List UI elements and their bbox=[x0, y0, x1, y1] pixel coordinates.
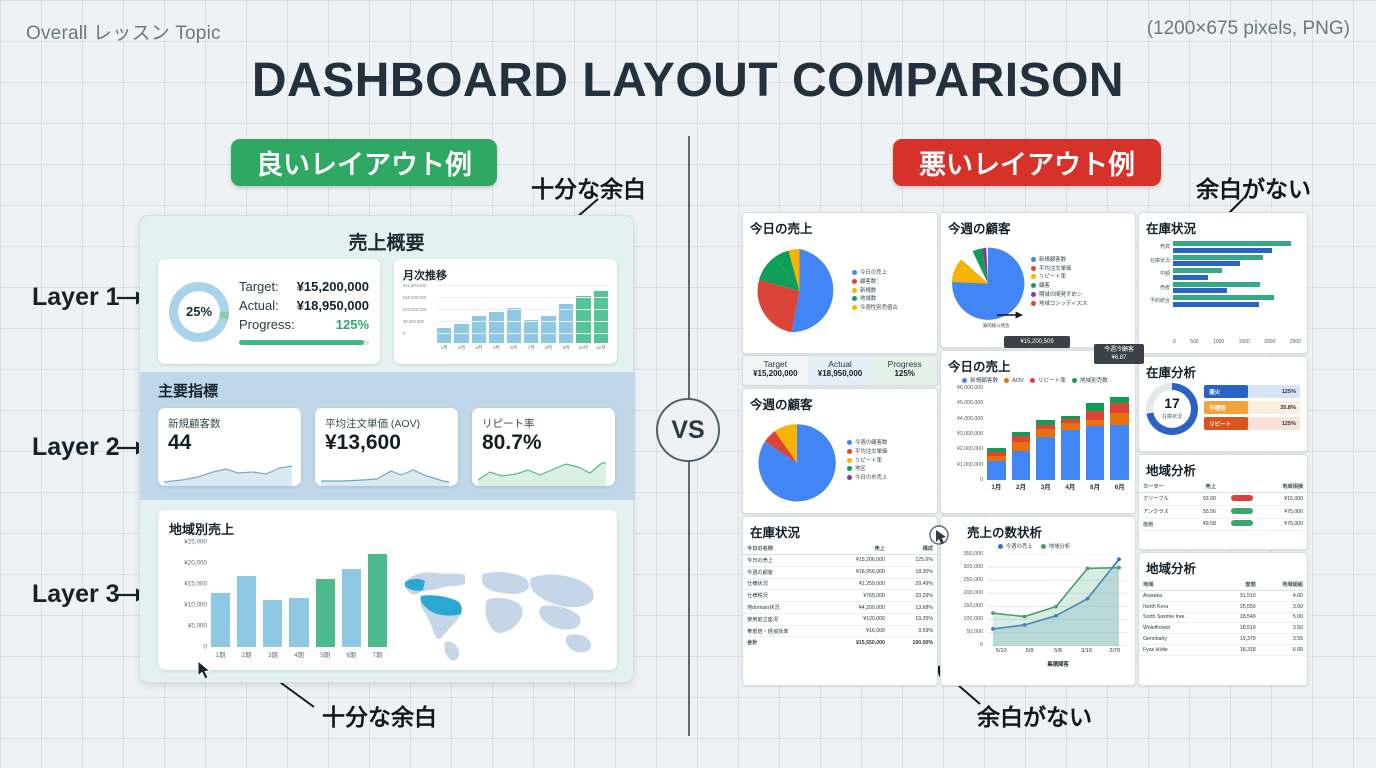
regional-x-labels: 1期2期3期4期5期6期7期 bbox=[211, 650, 387, 659]
legend-item: 新規数 bbox=[852, 287, 898, 296]
gauge-row-value: 35.8% bbox=[1248, 402, 1300, 413]
top-bar: Overall レッスン Topic (1200×675 pixels, PNG… bbox=[0, 18, 1376, 48]
gauge-donut: 17 在庫状況 bbox=[1146, 383, 1198, 435]
good-dashboard-mock: 売上概要 25% Target: ¥15,200,000 Actual: ¥18… bbox=[139, 215, 634, 683]
bad-layout-badge: 悪いレイアウト例 bbox=[893, 139, 1161, 186]
sparkline-icon bbox=[315, 460, 458, 486]
table-cell: ¥15,206,000 bbox=[827, 555, 889, 567]
table-cell: 6.60 bbox=[1260, 644, 1307, 655]
legend-item: 顧客 bbox=[1031, 282, 1087, 291]
y-label: ¥3,000,000 bbox=[957, 431, 983, 437]
bad-region-1-title: 地域分析 bbox=[1139, 455, 1307, 481]
bad-card-inventory-gauge[interactable]: 在庫分析 17 在庫状況 潮火125%平理術35.8%リピート125% bbox=[1138, 356, 1308, 452]
legend-label: 新規数 bbox=[860, 288, 876, 294]
legend-dot-icon bbox=[852, 270, 857, 275]
vs-marker: VS bbox=[656, 398, 720, 462]
bad-card-week-customers-pie[interactable]: 今週の顧客 今週の顧客数平均注文単価リピート率地区今日の市売上 bbox=[742, 388, 938, 514]
hbar-row: 中額 bbox=[1141, 268, 1301, 280]
legend-item: 地域コンッディスス bbox=[1031, 300, 1087, 309]
legend-dot-icon bbox=[1041, 544, 1046, 549]
gauge-row-label: 平理術 bbox=[1204, 401, 1248, 414]
monthly-x-label: 12月 bbox=[594, 345, 608, 351]
table-row: 仕様状況¥1,259,00029.49% bbox=[743, 578, 937, 590]
legend-label: リピート率 bbox=[855, 458, 882, 464]
table-cell: Araseka bbox=[1139, 591, 1220, 602]
legend-dot-icon bbox=[847, 475, 852, 480]
kpi-value: ¥13,600 bbox=[325, 431, 448, 455]
table-cell: ¥16,000 bbox=[827, 625, 889, 637]
table-header: 地域 bbox=[1139, 579, 1220, 591]
x-label: 1000 bbox=[1213, 339, 1224, 345]
legend-dot-icon bbox=[1031, 274, 1036, 279]
legend-label: リピート率 bbox=[1038, 378, 1066, 384]
kpi-progress: Progress 125% bbox=[872, 356, 937, 385]
gauge-caption: 在庫状況 bbox=[1146, 413, 1198, 420]
line-y-labels: 350,000300,000250,000200,000150,000100,0… bbox=[941, 554, 985, 646]
monthly-x-label: 2月 bbox=[454, 345, 468, 351]
y-label: 300,000 bbox=[964, 564, 984, 570]
table-cell: 13.68% bbox=[889, 602, 937, 614]
pie-value-tooltip: ¥15,200,509 bbox=[1004, 336, 1070, 348]
table-row: 地domain状況¥4,200,00013.68% bbox=[743, 602, 937, 614]
table-cell: 9.59% bbox=[889, 625, 937, 637]
regional-bar bbox=[237, 576, 256, 647]
regional-y-label: ¥25,000 bbox=[184, 539, 207, 546]
regional-y-label: ¥10,000 bbox=[184, 602, 207, 609]
monthly-trend-x-labels: 1月2月3月4月6月7月8月9月10月12月 bbox=[403, 345, 608, 351]
monthly-x-label: 4月 bbox=[489, 345, 503, 351]
legend-item: 平均注文単価 bbox=[847, 448, 887, 457]
kpi-card-new-customers[interactable]: 新規顧客数 44 bbox=[158, 408, 301, 486]
regional-x-label: 6期 bbox=[342, 650, 361, 659]
x-label: 8月 bbox=[1086, 482, 1105, 491]
pie-legend: 今週の顧客数平均注文単価リピート率地区今日の市売上 bbox=[847, 439, 887, 483]
regional-bar bbox=[368, 554, 387, 647]
y-label: 0 bbox=[980, 477, 983, 483]
x-label: 2500 bbox=[1290, 339, 1301, 345]
bad-gauge-title: 在庫分析 bbox=[1139, 357, 1307, 383]
bad-card-inventory-bars[interactable]: 在庫状況 売高在庫状況中額売者予約統合 05001000150020002500 bbox=[1138, 212, 1308, 354]
line-x-labels: 5/105/95/83/192/70 bbox=[987, 648, 1129, 654]
regional-x-label: 3期 bbox=[263, 650, 282, 659]
gauge-row: 平理術35.8% bbox=[1204, 401, 1300, 414]
x-label: 5/9 bbox=[1015, 648, 1043, 654]
regional-bar bbox=[211, 593, 230, 647]
table-header: 地域相損 bbox=[1264, 481, 1307, 493]
legend-label: 今日の売上 bbox=[860, 270, 887, 276]
stacked-segment bbox=[1036, 437, 1055, 480]
legend-label: 期域の関発ずめシ bbox=[1039, 292, 1082, 298]
x-label: 1500 bbox=[1239, 339, 1250, 345]
stacked-segment bbox=[1086, 403, 1105, 411]
stacked-bar bbox=[1086, 403, 1105, 480]
kpi-label: 新規顧客数 bbox=[168, 416, 291, 431]
monthly-bar bbox=[559, 304, 573, 343]
gauge-value: 17 bbox=[1146, 395, 1198, 411]
hbar-series-a bbox=[1173, 241, 1291, 246]
progress-value: 125% bbox=[336, 316, 369, 335]
legend-item: 地区 bbox=[847, 465, 887, 474]
legend-item: 新規顧客数 bbox=[1031, 256, 1087, 265]
line-chart-plot bbox=[987, 554, 1127, 646]
monthly-bar bbox=[594, 291, 608, 343]
table-cell: 3.50 bbox=[1260, 623, 1307, 634]
kpi-target-value: ¥15,200,000 bbox=[743, 369, 808, 378]
summary-row-actual: Actual: ¥18,950,000 bbox=[239, 297, 369, 316]
gauge-row-value: 125% bbox=[1248, 386, 1300, 397]
regional-bar bbox=[316, 579, 335, 647]
summary-row-progress: Progress: 125% bbox=[239, 316, 369, 335]
legend-dot-icon bbox=[852, 296, 857, 301]
monthly-x-label: 1月 bbox=[437, 345, 451, 351]
table-cell: 3.60 bbox=[1260, 601, 1307, 612]
table-cell: Fyas kiIdie bbox=[1139, 644, 1220, 655]
good-layout-badge: 良いレイアウト例 bbox=[231, 139, 497, 186]
stacked-bar bbox=[1036, 420, 1055, 480]
legend-dot-icon bbox=[847, 449, 852, 454]
stacked-bars bbox=[987, 388, 1129, 480]
world-map bbox=[391, 542, 606, 666]
annotation-good-bottom: 十分な余白 bbox=[322, 698, 437, 732]
stacked-y-labels: ¥6,000,000¥5,000,000¥4,000,000¥3,000,000… bbox=[941, 388, 985, 480]
table-cell: ¥4,200,000 bbox=[827, 602, 889, 614]
table-cell: 25,550 bbox=[1220, 601, 1259, 612]
table-cell: 31,510 bbox=[1220, 591, 1259, 602]
table-header: 売上 bbox=[1189, 481, 1220, 493]
bad-kpi-strip[interactable]: Target ¥15,200,000 Actual ¥18,950,000 Pr… bbox=[742, 355, 938, 386]
hbar-series-a bbox=[1173, 268, 1222, 273]
legend-item: 顧客数 bbox=[852, 278, 898, 287]
table-cell: 100.00% bbox=[889, 637, 937, 648]
bad-card-region-table-2[interactable]: 地域分析 地域査閲地域組組Araseka31,5104.60North Kera… bbox=[1138, 552, 1308, 686]
legend-item: 平均注文単価 bbox=[1031, 265, 1087, 274]
stacked-segment bbox=[1086, 411, 1105, 420]
table-cell: 18,318 bbox=[1220, 644, 1259, 655]
regional-y-label: ¥20,000 bbox=[184, 560, 207, 567]
table-total-row: 合計¥15,550,000100.00% bbox=[743, 637, 937, 648]
x-label: 3/19 bbox=[1072, 648, 1100, 654]
kpi-value: 44 bbox=[168, 431, 291, 455]
legend-label: 新規顧客数 bbox=[970, 378, 998, 384]
inventory-table: 今日の名称売上構成今日の売上¥15,206,000125.6%今週の顧客¥18,… bbox=[743, 543, 937, 648]
regional-sales-chart: ¥25,000¥20,000¥15,000¥10,000¥5,0000 1期2期… bbox=[169, 542, 391, 666]
regional-x-label: 2期 bbox=[237, 650, 256, 659]
table-cell: Gennbahy bbox=[1139, 634, 1220, 645]
table-row: Araseka31,5104.60 bbox=[1139, 591, 1307, 602]
regional-x-label: 4期 bbox=[289, 650, 308, 659]
legend-dot-icon bbox=[1031, 257, 1036, 262]
stacked-segment bbox=[1061, 423, 1080, 430]
gauge-row-value: 125% bbox=[1248, 418, 1300, 429]
kpi-card-aov[interactable]: 平均注文単価 (AOV) ¥13,600 bbox=[315, 408, 458, 486]
regional-bar bbox=[342, 569, 361, 647]
legend-dot-icon bbox=[962, 378, 967, 383]
bad-line-title: 売上の数状析 bbox=[941, 517, 1135, 543]
table-cell: ¥120,000 bbox=[827, 613, 889, 625]
pie-arrow-icon bbox=[996, 311, 1030, 319]
floating-tooltip: 今週冷顧客 ¥6.87 bbox=[1094, 344, 1144, 364]
table-cell: 18,519 bbox=[1220, 623, 1259, 634]
layer-2-label: Layer 2 bbox=[32, 433, 120, 462]
legend-item: 今週の売上 bbox=[998, 544, 1033, 550]
table-cell: 施胞 bbox=[1139, 518, 1189, 531]
bad-card-region-table-1[interactable]: 地域分析 カーター売上地域相損クリーブル93.00¥15,000アンクラス55.… bbox=[1138, 454, 1308, 550]
legend-dot-icon bbox=[847, 440, 852, 445]
table-cell: 93.00 bbox=[1189, 493, 1220, 506]
x-label: 5/10 bbox=[987, 648, 1015, 654]
bad-inventory-title: 在庫状況 bbox=[743, 517, 937, 543]
key-metrics-title: 主要指標 bbox=[140, 372, 635, 401]
regional-bars bbox=[211, 542, 387, 647]
table-row: アンクラス55.56¥75,000 bbox=[1139, 505, 1307, 518]
legend-item: 地域別売数 bbox=[1072, 378, 1108, 384]
kpi-card-repeat-rate[interactable]: リピート率 80.7% bbox=[472, 408, 615, 486]
legend-dot-icon bbox=[1030, 378, 1035, 383]
table-row: 帯部倍・経協効率¥16,0009.59% bbox=[743, 625, 937, 637]
x-label: 2/70 bbox=[1101, 648, 1129, 654]
legend-label: 平均注文単価 bbox=[1039, 266, 1071, 272]
summary-row-target: Target: ¥15,200,000 bbox=[239, 278, 369, 297]
x-label: 4月 bbox=[1061, 482, 1080, 491]
table-header: 売上 bbox=[827, 543, 889, 555]
table-row: 今日の売上¥15,206,000125.6% bbox=[743, 555, 937, 567]
table-cell: 18,549 bbox=[1220, 612, 1259, 623]
table-header: 地域組組 bbox=[1260, 579, 1307, 591]
stacked-segment bbox=[1061, 430, 1080, 480]
table-row: Fyas kiIdie18,3186.60 bbox=[1139, 644, 1307, 655]
table-row: Sorth Sasmie Iree18,5495.00 bbox=[1139, 612, 1307, 623]
y-label: ¥1,000,000 bbox=[957, 462, 983, 468]
table-cell: 地domain状況 bbox=[743, 602, 827, 614]
legend-label: 顧客数 bbox=[860, 279, 876, 285]
kpi-target: Target ¥15,200,000 bbox=[743, 356, 808, 385]
monthly-bar bbox=[524, 320, 538, 343]
hbar-series-a bbox=[1173, 255, 1263, 260]
regional-y-labels: ¥25,000¥20,000¥15,000¥10,000¥5,0000 bbox=[169, 542, 209, 647]
trend-pill-icon bbox=[1220, 505, 1264, 518]
y-label: 350,000 bbox=[964, 551, 984, 557]
kpi-progress-value: 125% bbox=[872, 369, 937, 378]
legend-label: 平均注文単価 bbox=[855, 449, 887, 455]
actual-label: Actual: bbox=[239, 297, 279, 316]
table-cell: ¥18,956,000 bbox=[827, 566, 889, 578]
table-cell: 今週の顧客 bbox=[743, 566, 827, 578]
legend-label: AOV bbox=[1012, 378, 1024, 384]
legend-label: 今週性別売値古 bbox=[860, 305, 898, 311]
hbar-row: 在庫状況 bbox=[1141, 255, 1301, 267]
monthly-bar bbox=[576, 296, 590, 343]
regional-y-label: 0 bbox=[203, 644, 207, 651]
table-cell: 29.49% bbox=[889, 578, 937, 590]
stacked-segment bbox=[987, 461, 1006, 480]
monthly-trend-title: 月次推移 bbox=[403, 267, 608, 283]
hbar-row: 売者 bbox=[1141, 282, 1301, 294]
bad-card-today-sales-pie[interactable]: 今日の売上 今日の売上顧客数新規数地域数今週性別売値古 bbox=[742, 212, 938, 354]
bad-week-customers-title: 今週の顧客 bbox=[743, 389, 937, 415]
table-cell: 今日の売上 bbox=[743, 555, 827, 567]
legend-label: 今週の売上 bbox=[1006, 544, 1033, 550]
table-cell: ¥765,000 bbox=[827, 590, 889, 602]
regional-x-label: 1期 bbox=[211, 650, 230, 659]
page-title: DASHBOARD LAYOUT COMPARISON bbox=[0, 53, 1376, 108]
table-row: 使用前立座況¥120,00019.35% bbox=[743, 613, 937, 625]
y-label: 100,000 bbox=[964, 616, 984, 622]
monthly-x-label: 3月 bbox=[472, 345, 486, 351]
legend-item: 地域分析 bbox=[1041, 544, 1071, 550]
bad-card-line-chart[interactable]: 売上の数状析 今週の売上地域分析 350,000300,000250,00020… bbox=[940, 516, 1136, 686]
stacked-segment bbox=[1110, 425, 1129, 480]
table-cell: Wolelfrowot bbox=[1139, 623, 1220, 634]
stacked-segment bbox=[1110, 413, 1129, 425]
table-header: 今日の名称 bbox=[743, 543, 827, 555]
table-cell: 23.29% bbox=[889, 590, 937, 602]
table-cell: ¥15,000 bbox=[1264, 493, 1307, 506]
table-cell: 19,379 bbox=[1220, 634, 1259, 645]
mouse-cursor-secondary-icon bbox=[196, 660, 216, 682]
table-cell: ¥1,259,000 bbox=[827, 578, 889, 590]
stacked-bar bbox=[1061, 416, 1080, 480]
kpi-actual-label: Actual bbox=[808, 359, 873, 369]
table-cell: North Kera bbox=[1139, 601, 1220, 612]
kpi-label: リピート率 bbox=[482, 416, 605, 431]
hbar-label: 在庫状況 bbox=[1141, 257, 1173, 264]
monthly-bar bbox=[541, 316, 555, 343]
mouse-cursor-icon bbox=[929, 525, 951, 549]
stacked-segment bbox=[1012, 451, 1031, 480]
legend-dot-icon bbox=[852, 305, 857, 310]
kpi-value: 80.7% bbox=[482, 431, 605, 455]
hbar-series-a bbox=[1173, 295, 1274, 300]
table-cell: 使用前立座況 bbox=[743, 613, 827, 625]
kpi-card-group: 新規顧客数 44 平均注文単価 (AOV) ¥13,600 リピート率 80.7… bbox=[140, 401, 635, 486]
table-cell: 5.00 bbox=[1260, 612, 1307, 623]
legend-item: 今週の顧客数 bbox=[847, 439, 887, 448]
legend-item: リピート率 bbox=[1030, 378, 1066, 384]
summary-values: Target: ¥15,200,000 Actual: ¥18,950,000 … bbox=[239, 278, 369, 345]
legend-label: リピート率 bbox=[1039, 274, 1066, 280]
x-label: 2000 bbox=[1264, 339, 1275, 345]
bad-region-2-title: 地域分析 bbox=[1139, 553, 1307, 579]
image-dimensions-label: (1200×675 pixels, PNG) bbox=[1147, 18, 1350, 40]
table-row: Gennbahy19,3793.55 bbox=[1139, 634, 1307, 645]
y-label: 0 bbox=[980, 642, 983, 648]
hbar-label: 中額 bbox=[1141, 270, 1173, 277]
table-cell: 4.60 bbox=[1260, 591, 1307, 602]
table-cell: 仕様状況 bbox=[743, 578, 827, 590]
table-row: クリーブル93.00¥15,000 bbox=[1139, 493, 1307, 506]
monthly-x-label: 8月 bbox=[541, 345, 555, 351]
table-header: カーター bbox=[1139, 481, 1189, 493]
topic-label: Overall レッスン Topic bbox=[26, 18, 221, 45]
bad-card-stacked-chart[interactable]: 今日の売上 新規顧客数AOVリピート率地域別売数 ¥6,000,000¥5,00… bbox=[940, 350, 1136, 514]
legend-dot-icon bbox=[1031, 292, 1036, 297]
monthly-bar bbox=[437, 328, 451, 343]
table-cell: 125.6% bbox=[889, 555, 937, 567]
legend-item: 今日の売上 bbox=[852, 269, 898, 278]
x-label: 500 bbox=[1190, 339, 1198, 345]
table-row: 施胞¥9.58¥75,000 bbox=[1139, 518, 1307, 531]
regional-bar bbox=[289, 598, 308, 647]
stacked-x-labels: 1月2月3月4月8月6月 bbox=[987, 482, 1129, 491]
legend-item: AOV bbox=[1004, 378, 1024, 384]
table-header: 査閲 bbox=[1220, 579, 1259, 591]
table-cell: アンクラス bbox=[1139, 505, 1189, 518]
good-dashboard-title: 売上概要 bbox=[140, 216, 633, 255]
floating-tooltip-line1: 今週冷顧客 bbox=[1104, 347, 1134, 353]
legend-label: 地域数 bbox=[860, 296, 876, 302]
legend-label: 新規顧客数 bbox=[1039, 257, 1066, 263]
inventory-hbar-x-labels: 05001000150020002500 bbox=[1173, 339, 1301, 345]
table-cell: 18.30% bbox=[889, 566, 937, 578]
legend-label: 地区 bbox=[855, 466, 866, 472]
y-label: ¥6,000,000 bbox=[957, 385, 983, 391]
legend-dot-icon bbox=[852, 279, 857, 284]
pie-chart-icon bbox=[747, 241, 852, 341]
region-table-1: カーター売上地域相損クリーブル93.00¥15,000アンクラス55.56¥75… bbox=[1139, 481, 1307, 531]
regional-y-label: ¥5,000 bbox=[188, 623, 207, 630]
legend-item: リピート率 bbox=[847, 457, 887, 466]
legend-label: 今週の顧客数 bbox=[855, 440, 887, 446]
legend-dot-icon bbox=[847, 458, 852, 463]
stacked-segment bbox=[1110, 403, 1129, 412]
table-cell: 合計 bbox=[743, 637, 827, 648]
regional-sales-card[interactable]: 地域別売上 ¥25,000¥20,000¥15,000¥10,000¥5,000… bbox=[158, 510, 617, 670]
trend-pill-icon bbox=[1220, 518, 1264, 531]
table-cell: ¥75,000 bbox=[1264, 505, 1307, 518]
y-label: ¥5,000,000 bbox=[957, 400, 983, 406]
legend-label: 今日の市売上 bbox=[855, 475, 887, 481]
hbar-series-b bbox=[1173, 302, 1259, 307]
legend-label: 地域分析 bbox=[1049, 544, 1071, 550]
monthly-trend-card[interactable]: 月次推移 ¥11,000,000¥10,500,000¥10,000,000¥9… bbox=[394, 259, 617, 364]
bad-card-inventory-table[interactable]: 在庫状況 今日の名称売上構成今日の売上¥15,206,000125.6%今週の顧… bbox=[742, 516, 938, 686]
hbar-series-a bbox=[1173, 282, 1260, 287]
regional-y-label: ¥15,000 bbox=[184, 581, 207, 588]
x-label: 5/8 bbox=[1044, 648, 1072, 654]
hbar-label: 予約統合 bbox=[1141, 297, 1173, 304]
legend-dot-icon bbox=[1031, 283, 1036, 288]
table-cell: Sorth Sasmie Iree bbox=[1139, 612, 1220, 623]
world-map-icon bbox=[391, 544, 606, 664]
monthly-x-label: 6月 bbox=[507, 345, 521, 351]
x-label: 6月 bbox=[1110, 482, 1129, 491]
donut-value: 25% bbox=[169, 282, 229, 342]
hbar-label: 売者 bbox=[1141, 284, 1173, 291]
layer-3-label: Layer 3 bbox=[32, 580, 120, 609]
bad-card-week-customers-pie-2[interactable]: 今週の顧客 新規顧客数平均注文単価リピート率顧客期域の関発ずめシ地域コンッディス… bbox=[940, 212, 1136, 348]
monthly-x-label: 10月 bbox=[576, 345, 590, 351]
kpi-actual-value: ¥18,950,000 bbox=[808, 369, 873, 378]
regional-bar bbox=[263, 600, 282, 647]
table-cell: 19.35% bbox=[889, 613, 937, 625]
table-row: Wolelfrowot18,5193.50 bbox=[1139, 623, 1307, 634]
legend-dot-icon bbox=[852, 288, 857, 293]
bad-inventory-bars-title: 在庫状況 bbox=[1139, 213, 1307, 239]
bad-today-sales-title: 今日の売上 bbox=[743, 213, 937, 239]
monthly-x-label: 7月 bbox=[524, 345, 538, 351]
hbar-row: 予約統合 bbox=[1141, 295, 1301, 307]
y-label: ¥2,000,000 bbox=[957, 446, 983, 452]
monthly-trend-bars: ¥11,000,000¥10,500,000¥10,000,000¥9,500,… bbox=[403, 285, 608, 343]
gauge-row-label: リピート bbox=[1204, 417, 1248, 430]
hbar-series-b bbox=[1173, 248, 1272, 253]
sparkline-icon bbox=[472, 460, 615, 486]
line-x-axis-title: 集積関客 bbox=[987, 660, 1129, 668]
hbar-row: 売高 bbox=[1141, 241, 1301, 253]
monthly-x-label: 9月 bbox=[559, 345, 573, 351]
target-label: Target: bbox=[239, 278, 279, 297]
sales-summary-card[interactable]: 25% Target: ¥15,200,000 Actual: ¥18,950,… bbox=[158, 259, 380, 364]
